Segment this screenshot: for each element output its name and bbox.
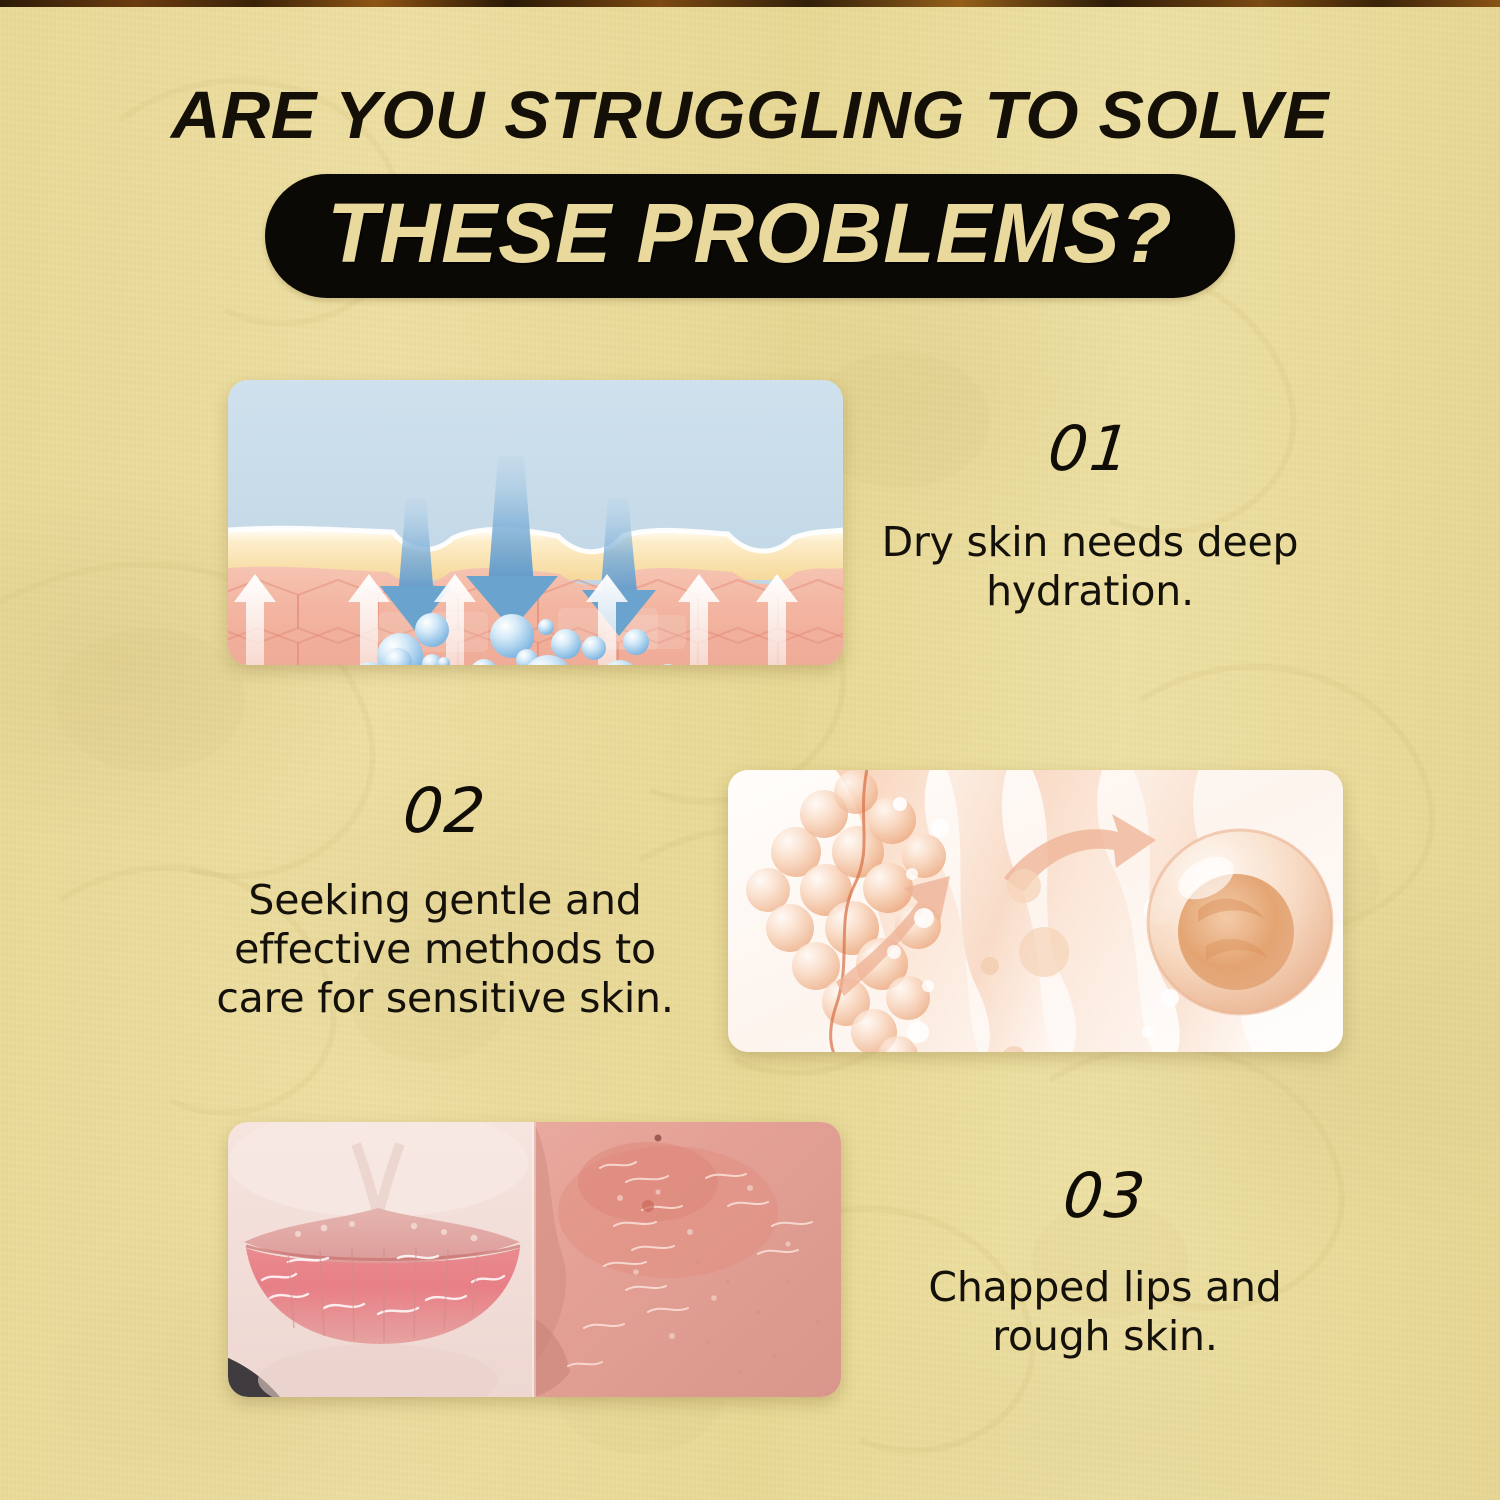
headline-line-1: ARE YOU STRUGGLING TO SOLVE bbox=[0, 82, 1500, 149]
item-2-description-line-1: Seeking gentle and bbox=[205, 876, 685, 925]
headline-group: ARE YOU STRUGGLING TO SOLVE THESE PROBLE… bbox=[0, 82, 1500, 298]
top-edge-strip bbox=[0, 0, 1500, 7]
item-1-text-block: 01 Dry skin needs deep hydration. bbox=[845, 418, 1335, 616]
item-3-number: 03 bbox=[882, 1165, 1329, 1227]
item-2-text-block: 02 Seeking gentle and effective methods … bbox=[205, 780, 685, 1024]
item-3-description-line-1: Chapped lips and bbox=[885, 1263, 1325, 1312]
item-3-description: Chapped lips and rough skin. bbox=[885, 1263, 1325, 1361]
item-1-description-line-1: Dry skin needs deep bbox=[845, 518, 1335, 567]
item-1-image-card bbox=[228, 380, 843, 665]
headline-line-2: THESE PROBLEMS? bbox=[327, 191, 1173, 275]
poster-canvas: ARE YOU STRUGGLING TO SOLVE THESE PROBLE… bbox=[0, 0, 1500, 1500]
item-3-text-block: 03 Chapped lips and rough skin. bbox=[885, 1165, 1325, 1361]
item-1-description-line-2: hydration. bbox=[845, 567, 1335, 616]
item-1-number: 01 bbox=[842, 418, 1339, 480]
item-2-image-card bbox=[728, 770, 1343, 1052]
item-3-image-card bbox=[228, 1122, 841, 1397]
item-2-description-line-3: care for sensitive skin. bbox=[205, 974, 685, 1023]
item-2-description-line-2: effective methods to bbox=[205, 925, 685, 974]
item-2-number: 02 bbox=[202, 780, 689, 842]
item-2-description: Seeking gentle and effective methods to … bbox=[205, 876, 685, 1024]
headline-pill-wrapper: THESE PROBLEMS? bbox=[0, 174, 1500, 298]
item-1-description: Dry skin needs deep hydration. bbox=[845, 518, 1335, 616]
item-3-description-line-2: rough skin. bbox=[885, 1312, 1325, 1361]
headline-pill: THESE PROBLEMS? bbox=[265, 174, 1235, 298]
serum-droplet-sphere bbox=[1148, 830, 1332, 1014]
